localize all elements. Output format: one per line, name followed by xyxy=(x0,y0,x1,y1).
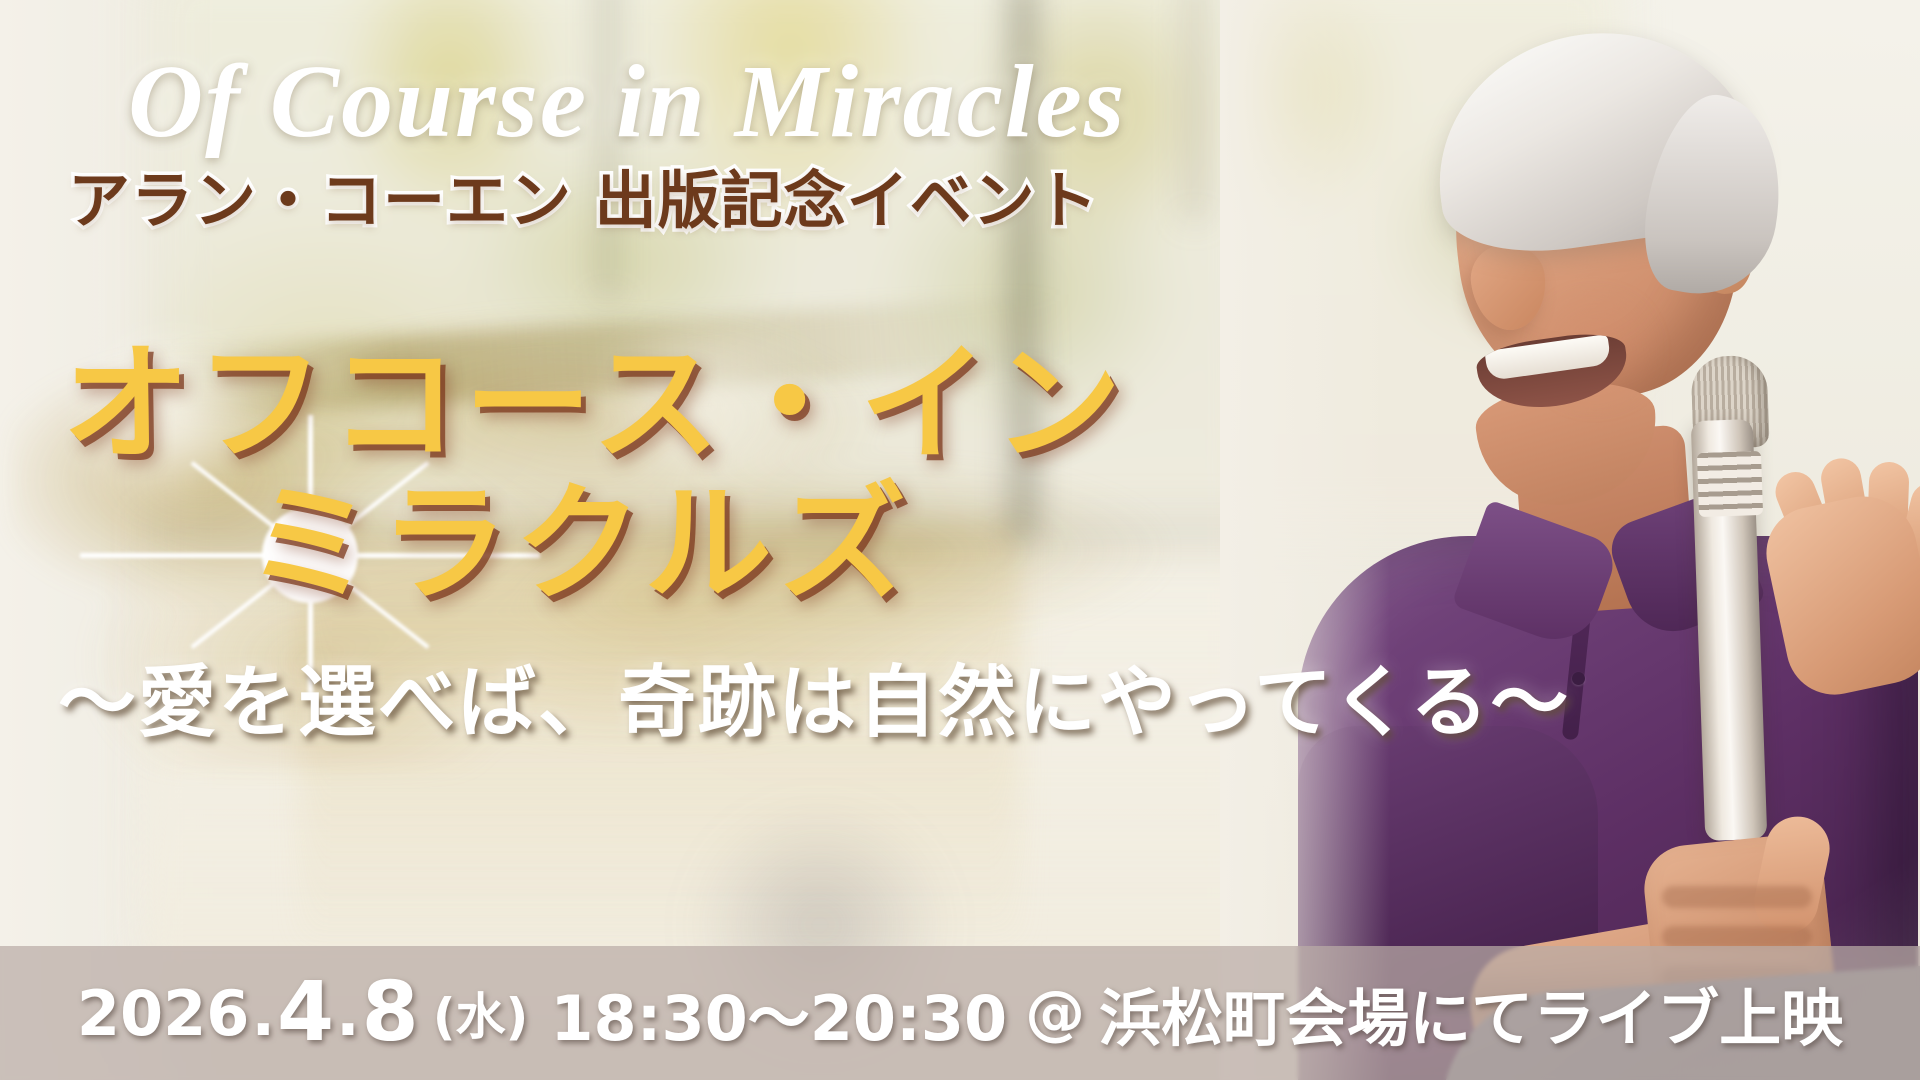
footer-at-sign: @ xyxy=(1025,978,1085,1048)
footer-day-of-week: (水) xyxy=(433,977,529,1049)
footer-text-row: 2026 . 4 . 8 (水) 18:30〜20:30 @ 浜松町会場にてライ… xyxy=(0,946,1920,1080)
footer-day: 8 xyxy=(362,976,419,1050)
footer-venue: 浜松町会場にてライブ上映 xyxy=(1099,968,1843,1058)
footer-dot-1: . xyxy=(251,977,275,1050)
footer-month: 4 xyxy=(277,976,334,1050)
footer-bar: 2026 . 4 . 8 (水) 18:30〜20:30 @ 浜松町会場にてライ… xyxy=(0,946,1920,1080)
main-title-line-2: ミラクルズ xyxy=(246,440,912,625)
event-poster: Of Course in Miracles アラン・コーエン 出版記念イベント … xyxy=(0,0,1920,1080)
footer-time: 18:30〜20:30 xyxy=(550,968,1007,1058)
english-title: Of Course in Miracles xyxy=(128,42,1126,161)
footer-year: 2026 xyxy=(77,977,250,1050)
footer-dot-2: . xyxy=(336,977,360,1050)
japanese-subtitle: アラン・コーエン 出版記念イベント xyxy=(68,150,1099,240)
tagline: 〜愛を選べば、奇跡は自然にやってくる〜 xyxy=(58,640,1570,752)
